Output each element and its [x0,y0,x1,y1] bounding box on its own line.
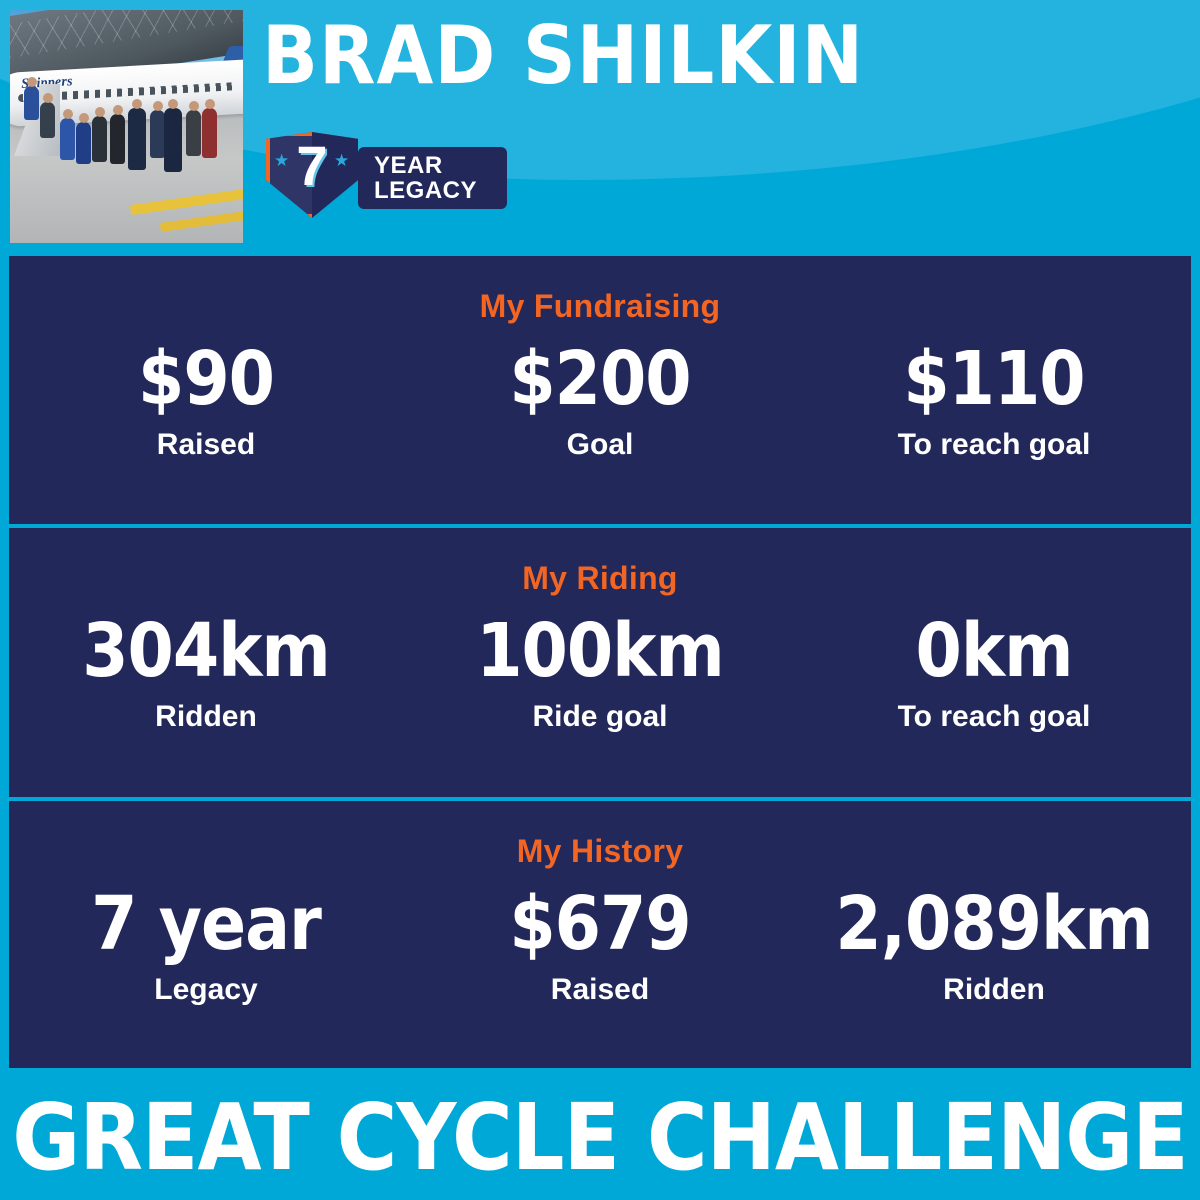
shield-icon: ★ ★ 7 [262,130,362,222]
stats-row: 304km Ridden 100km Ride goal 0km To reac… [9,610,1191,734]
stat-label: Goal [403,428,797,462]
stat-item: 2,089km Ridden [797,883,1191,1007]
stat-item: $110 To reach goal [797,338,1191,462]
stat-label: Ridden [9,700,403,734]
stat-item: 304km Ridden [9,610,403,734]
legacy-year-number: 7 [262,138,362,194]
legacy-badge-line1: YEAR [374,154,443,178]
photo-person [40,102,55,138]
stats-row: $90 Raised $200 Goal $110 To reach goal [9,338,1191,462]
poster-footer: GREAT CYCLE CHALLENGE [0,1068,1200,1200]
stat-label: Ride goal [403,700,797,734]
stat-label: Raised [9,428,403,462]
stat-value: 304km [9,610,403,692]
stat-label: Legacy [9,973,403,1007]
photo-person [202,108,217,158]
stat-value: $110 [797,338,1191,420]
section-history: My History 7 year Legacy $679 Raised 2,0… [9,801,1191,1068]
photo-person [186,110,201,156]
legacy-badge-plate: YEAR LEGACY [358,147,507,209]
stat-label: To reach goal [797,428,1191,462]
section-fundraising: My Fundraising $90 Raised $200 Goal $110… [9,256,1191,524]
stat-label: Raised [403,973,797,1007]
page-title: BRAD SHILKIN [262,16,864,96]
legacy-badge: YEAR LEGACY ★ ★ 7 [262,130,507,222]
photo-person [150,110,165,158]
stat-item: 100km Ride goal [403,610,797,734]
stats-panel: My Fundraising $90 Raised $200 Goal $110… [9,256,1191,1068]
stats-row: 7 year Legacy $679 Raised 2,089km Ridden [9,883,1191,1007]
stat-value: 7 year [9,883,403,965]
stat-value: 100km [403,610,797,692]
stat-item: $200 Goal [403,338,797,462]
section-title: My Fundraising [9,288,1191,325]
stat-value: 2,089km [797,883,1191,965]
stat-item: $679 Raised [403,883,797,1007]
photo-person [128,108,146,170]
stat-value: $200 [403,338,797,420]
section-title: My History [9,833,1191,870]
photo-person [92,116,107,162]
photo-person [164,108,182,172]
photo-person [60,118,75,160]
stat-item: 7 year Legacy [9,883,403,1007]
section-riding: My Riding 304km Ridden 100km Ride goal 0… [9,528,1191,797]
legacy-badge-line2: LEGACY [374,179,477,203]
stat-item: $90 Raised [9,338,403,462]
brand-wordmark: GREAT CYCLE CHALLENGE [0,1090,1200,1186]
stat-label: Ridden [797,973,1191,1007]
fundraising-poster: Skippers BRAD SHILKIN YEAR LEGACY [0,0,1200,1200]
stat-value: $90 [9,338,403,420]
photo-person [110,114,125,164]
stat-label: To reach goal [797,700,1191,734]
photo-person [76,122,91,164]
stat-value: 0km [797,610,1191,692]
stat-value: $679 [403,883,797,965]
poster-header: Skippers BRAD SHILKIN YEAR LEGACY [0,0,1200,256]
section-title: My Riding [9,560,1191,597]
stat-item: 0km To reach goal [797,610,1191,734]
photo-person [24,86,39,120]
participant-photo: Skippers [10,10,243,243]
